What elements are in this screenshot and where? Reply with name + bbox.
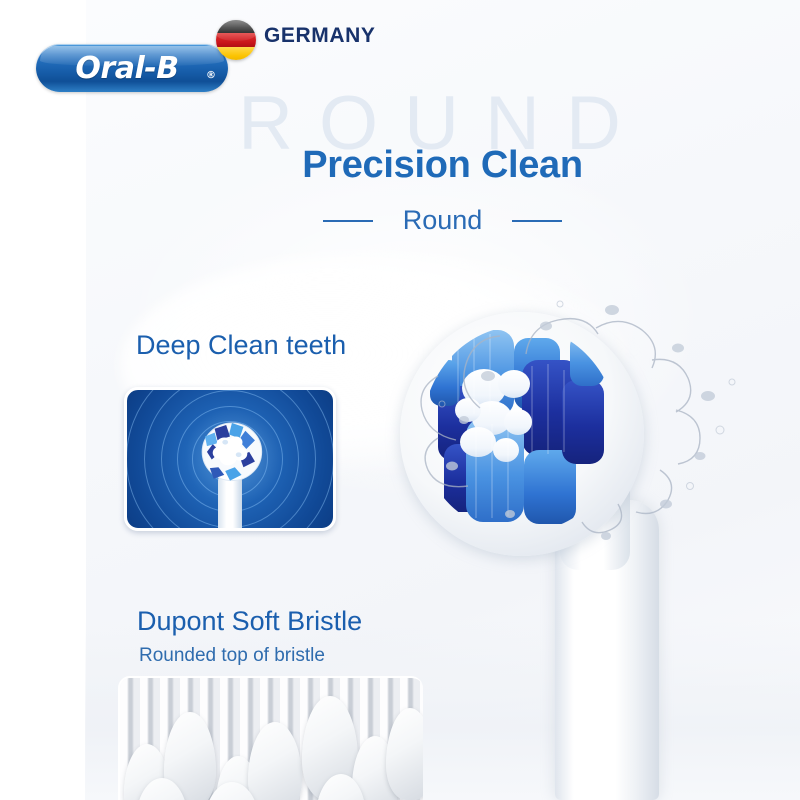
page-subtitle: Round: [403, 205, 483, 236]
inset-brush-head-icon: [182, 400, 278, 496]
background-left-margin: [0, 0, 86, 800]
flag-band-black: [216, 20, 256, 33]
page-title: Precision Clean: [85, 144, 800, 187]
oral-b-logo-text: Oral-B: [36, 44, 228, 92]
brush-bristles: [422, 326, 618, 532]
subtitle-row: Round: [85, 205, 800, 236]
product-advertisement-page: Oral-B ® GERMANY ROUND Precision Clean R…: [0, 0, 800, 800]
feature-title-deep-clean: Deep Clean teeth: [136, 330, 346, 361]
registered-trademark-icon: ®: [206, 70, 216, 81]
feature-title-dupont-bristle: Dupont Soft Bristle: [137, 606, 362, 637]
product-photo: [360, 290, 800, 800]
divider-dash-left: [323, 220, 373, 222]
feature-image-deep-clean: [124, 387, 336, 531]
feature-subtitle-rounded-top: Rounded top of bristle: [139, 645, 325, 667]
country-label: GERMANY: [264, 24, 376, 48]
divider-dash-right: [512, 220, 562, 222]
oral-b-logo: Oral-B ®: [36, 44, 228, 92]
